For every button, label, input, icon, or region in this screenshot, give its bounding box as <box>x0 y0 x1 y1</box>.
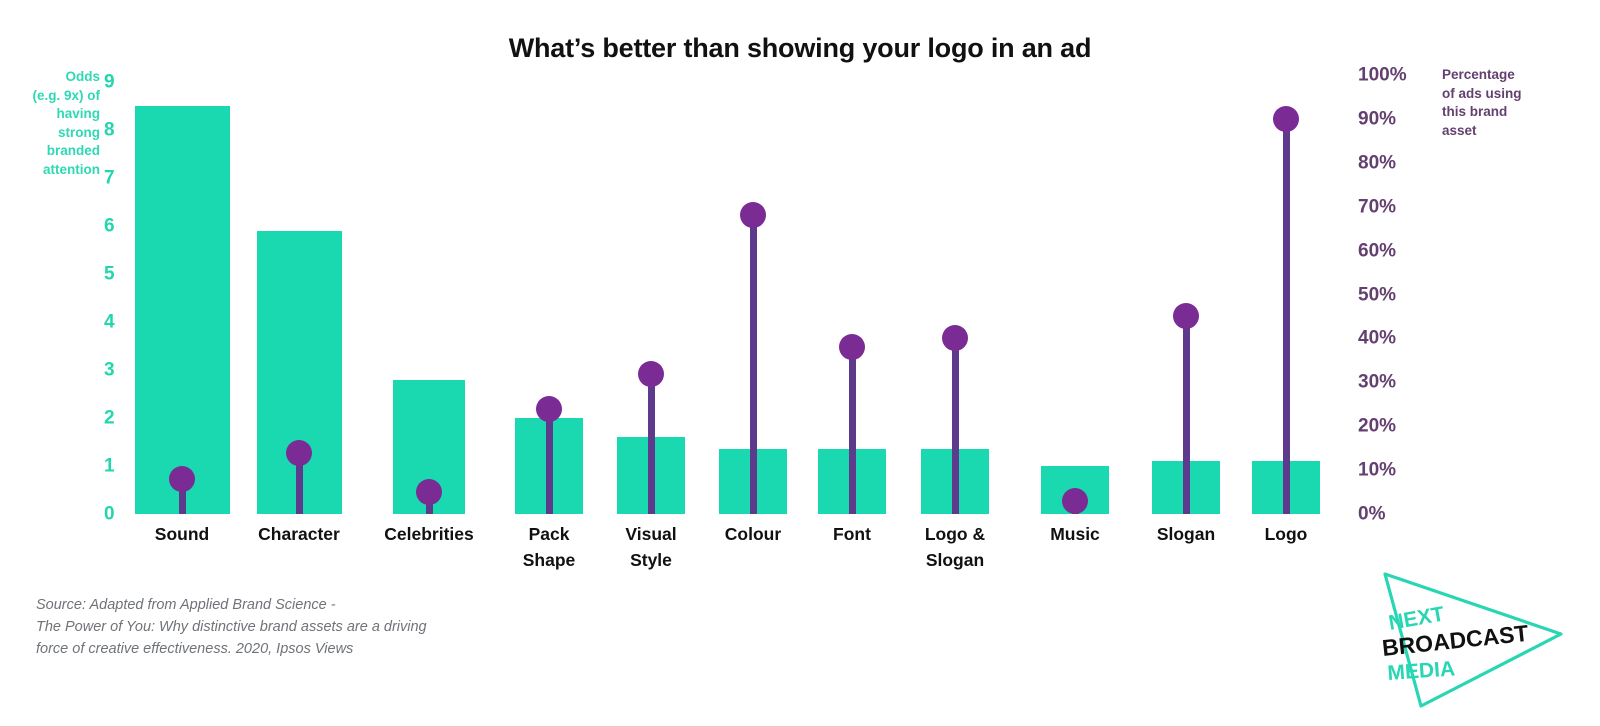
dot-font <box>839 334 865 360</box>
bar-logo---slogan <box>921 449 989 514</box>
left-tick-6: 6 <box>104 217 115 236</box>
left-tick-4: 4 <box>104 313 115 332</box>
right-axis-label-text: Percentage of ads using this brand asset <box>1442 67 1522 138</box>
right-tick-30: 30% <box>1358 373 1396 392</box>
right-tick-100: 100% <box>1358 66 1407 85</box>
x-axis-label-pack-shape: Pack Shape <box>459 521 639 573</box>
left-tick-8: 8 <box>104 121 115 140</box>
stem-pack-shape <box>546 409 553 514</box>
x-axis-label-colour: Colour <box>663 521 843 547</box>
x-axis-label-slogan: Slogan <box>1096 521 1276 547</box>
x-axis-label-font: Font <box>762 521 942 547</box>
bar-character <box>257 231 342 514</box>
stem-colour <box>750 215 757 514</box>
dot-music <box>1062 488 1088 514</box>
left-axis-label: Odds (e.g. 9x) of having strong branded … <box>8 68 100 179</box>
dot-visual-style <box>638 361 664 387</box>
stem-sound <box>179 479 186 514</box>
chart-title: What’s better than showing your logo in … <box>0 33 1600 64</box>
stem-slogan <box>1183 316 1190 514</box>
stem-visual-style <box>648 374 655 514</box>
dot-character <box>286 440 312 466</box>
dot-pack-shape <box>536 396 562 422</box>
svg-text:MEDIA: MEDIA <box>1387 657 1456 685</box>
x-axis-label-music: Music <box>985 521 1165 547</box>
left-axis-label-text: Odds (e.g. 9x) of having strong branded … <box>32 69 100 177</box>
x-axis-label-character: Character <box>209 521 389 547</box>
dot-slogan <box>1173 303 1199 329</box>
stem-celebrities <box>426 492 433 514</box>
dot-colour <box>740 202 766 228</box>
logo-triangle-icon: NEXT BROADCAST MEDIA <box>1355 556 1585 716</box>
left-tick-0: 0 <box>104 505 115 524</box>
right-tick-60: 60% <box>1358 241 1396 260</box>
source-note: Source: Adapted from Applied Brand Scien… <box>36 594 427 660</box>
left-tick-7: 7 <box>104 169 115 188</box>
left-tick-1: 1 <box>104 457 115 476</box>
x-axis-label-celebrities: Celebrities <box>339 521 519 547</box>
left-tick-2: 2 <box>104 409 115 428</box>
right-tick-70: 70% <box>1358 197 1396 216</box>
x-axis-label-sound: Sound <box>92 521 272 547</box>
right-axis-label: Percentage of ads using this brand asset <box>1442 66 1582 140</box>
bar-font <box>818 449 886 514</box>
bar-slogan <box>1152 461 1220 514</box>
right-tick-90: 90% <box>1358 109 1396 128</box>
stem-font <box>849 347 856 514</box>
left-tick-3: 3 <box>104 361 115 380</box>
bar-celebrities <box>393 380 465 514</box>
left-tick-5: 5 <box>104 265 115 284</box>
right-tick-80: 80% <box>1358 153 1396 172</box>
dot-logo---slogan <box>942 325 968 351</box>
bar-music <box>1041 466 1109 514</box>
stem-logo <box>1283 119 1290 514</box>
right-tick-20: 20% <box>1358 417 1396 436</box>
left-tick-9: 9 <box>104 73 115 92</box>
right-tick-10: 10% <box>1358 461 1396 480</box>
right-tick-0: 0% <box>1358 505 1385 524</box>
dot-celebrities <box>416 479 442 505</box>
bar-visual-style <box>617 437 685 514</box>
x-axis-label-visual-style: Visual Style <box>561 521 741 573</box>
bar-colour <box>719 449 787 514</box>
next-broadcast-media-logo: NEXT BROADCAST MEDIA <box>1355 556 1585 716</box>
stem-character <box>296 453 303 514</box>
dot-logo <box>1273 106 1299 132</box>
x-axis-label-logo---slogan: Logo & Slogan <box>865 521 1045 573</box>
right-tick-40: 40% <box>1358 329 1396 348</box>
x-axis-label-logo: Logo <box>1196 521 1376 547</box>
right-tick-50: 50% <box>1358 285 1396 304</box>
bar-logo <box>1252 461 1320 514</box>
stem-music <box>1072 501 1079 514</box>
bar-pack-shape <box>515 418 583 514</box>
bar-sound <box>135 106 230 514</box>
stem-logo---slogan <box>952 338 959 514</box>
dot-sound <box>169 466 195 492</box>
